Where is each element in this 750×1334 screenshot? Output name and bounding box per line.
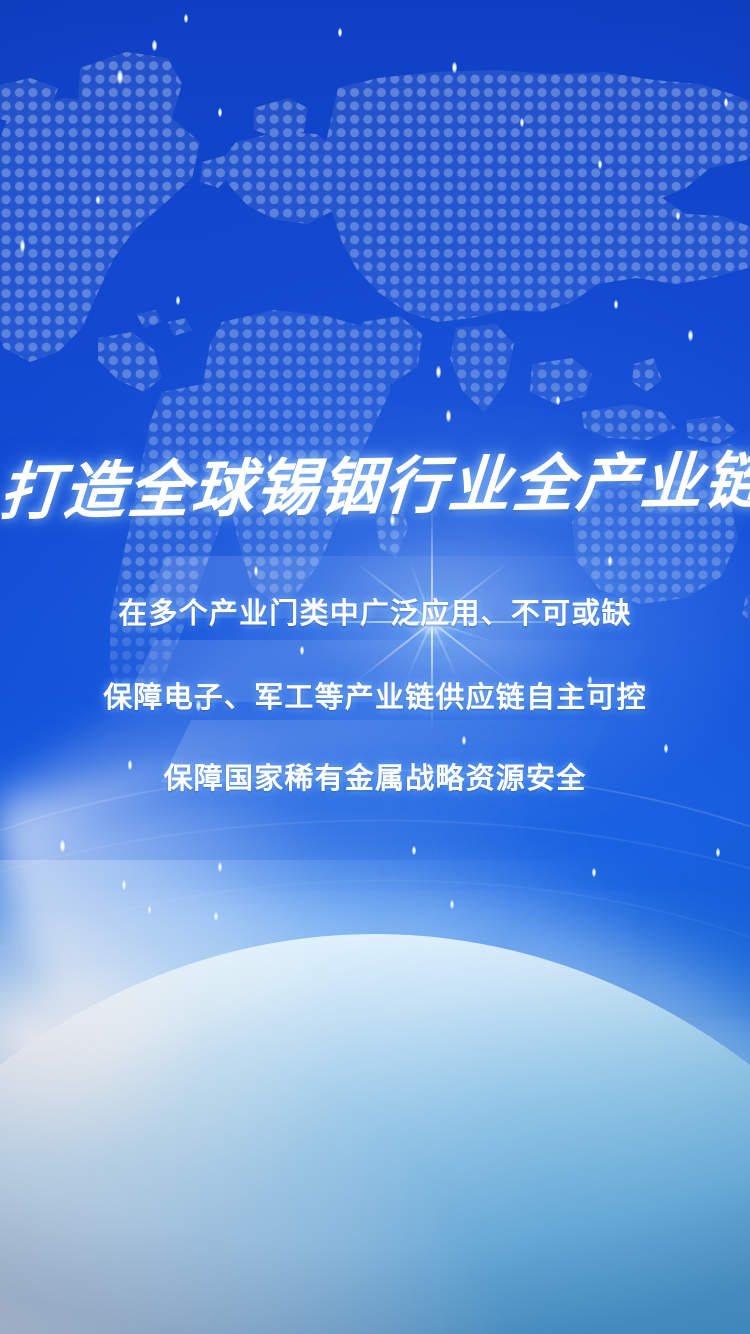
subtitle-line-1: 在多个产业门类中广泛应用、不可或缺 bbox=[0, 590, 750, 632]
subtitle-line-2: 保障电子、军工等产业链供应链自主可控 bbox=[0, 674, 750, 716]
poster-content: 打造全球锡铟行业全产业链链主 在多个产业门类中广泛应用、不可或缺 保障电子、军工… bbox=[0, 0, 750, 1334]
poster-canvas: 打造全球锡铟行业全产业链链主 在多个产业门类中广泛应用、不可或缺 保障电子、军工… bbox=[0, 0, 750, 1334]
page-title: 打造全球锡铟行业全产业链链主 bbox=[0, 450, 750, 524]
subtitle-line-3: 保障国家稀有金属战略资源安全 bbox=[0, 755, 750, 797]
